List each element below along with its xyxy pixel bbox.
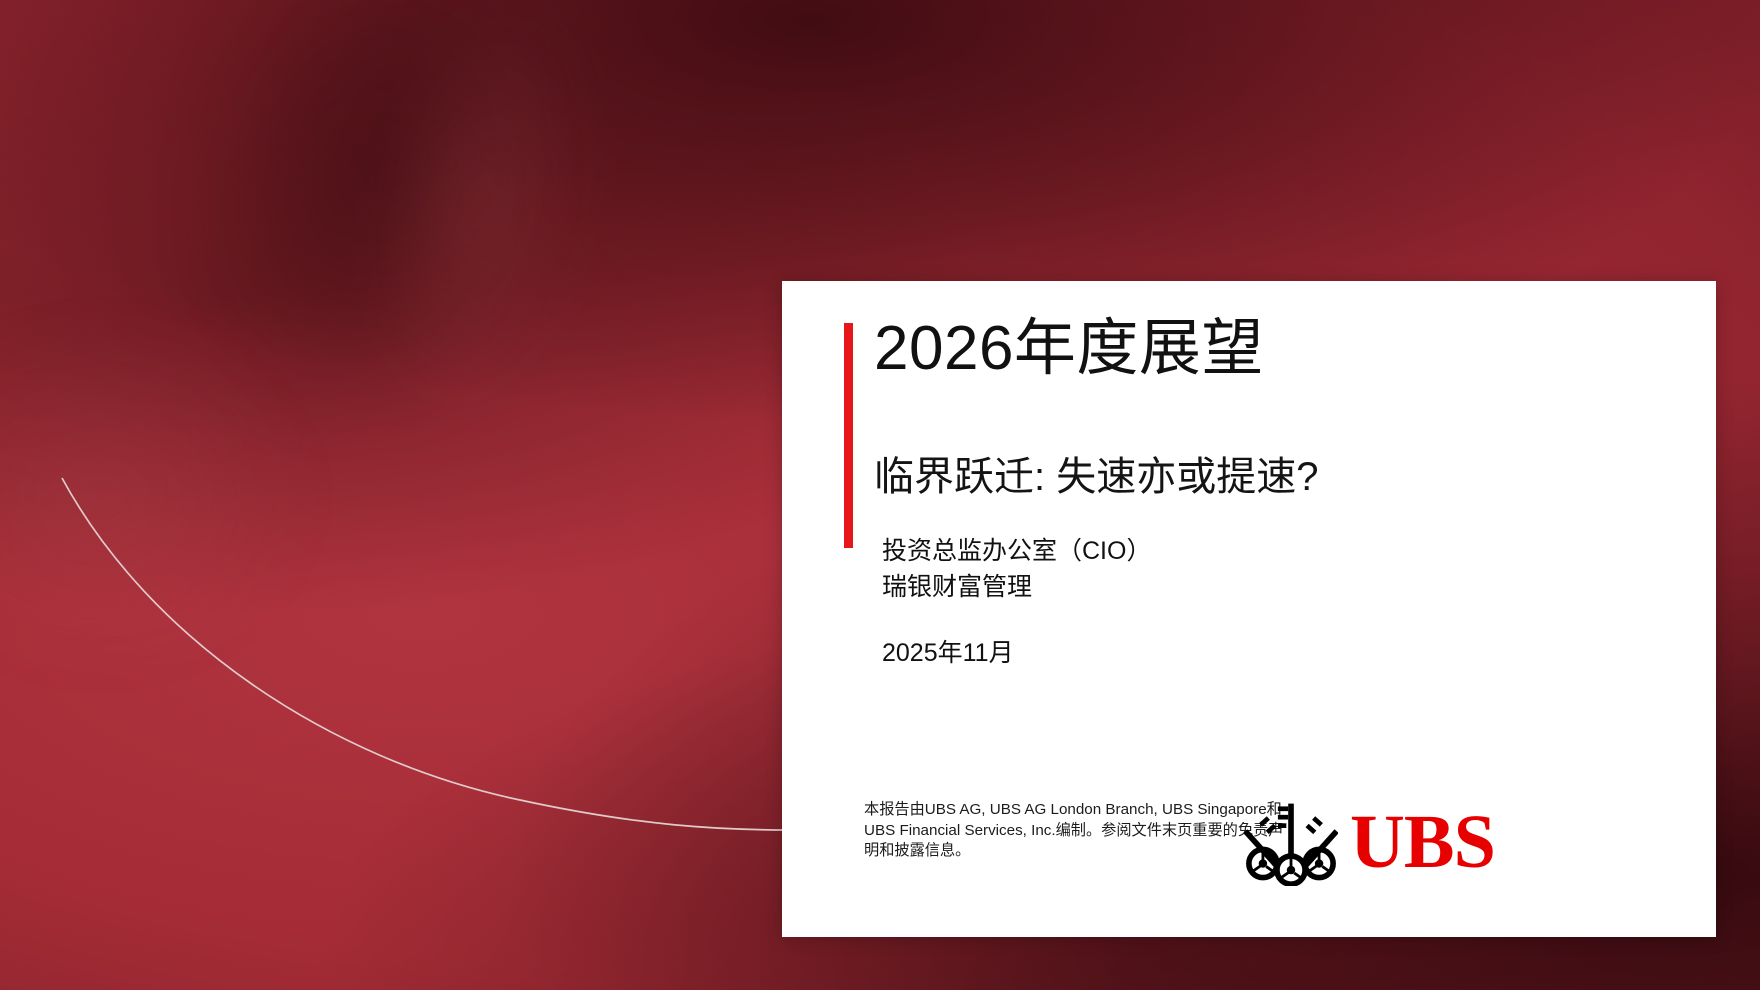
byline-line-1: 投资总监办公室（CIO）	[882, 533, 1151, 569]
publication-date: 2025年11月	[882, 633, 1014, 669]
ubs-logo: UBS	[1244, 796, 1506, 888]
disclaimer-text: 本报告由UBS AG, UBS AG London Branch, UBS Si…	[864, 800, 1284, 862]
title-card: 2026年度展望 临界跃迁: 失速亦或提速? 投资总监办公室（CIO） 瑞银财富…	[782, 281, 1716, 937]
red-accent-bar	[844, 323, 853, 548]
byline: 投资总监办公室（CIO） 瑞银财富管理	[882, 533, 1151, 606]
page-title: 2026年度展望	[874, 313, 1264, 384]
byline-line-2: 瑞银财富管理	[882, 569, 1151, 605]
slide-canvas: 2026年度展望 临界跃迁: 失速亦或提速? 投资总监办公室（CIO） 瑞银财富…	[0, 0, 1760, 990]
page-subtitle: 临界跃迁: 失速亦或提速?	[874, 453, 1318, 501]
three-crossed-keys-icon	[1244, 798, 1338, 886]
ubs-wordmark: UBS	[1350, 804, 1495, 880]
